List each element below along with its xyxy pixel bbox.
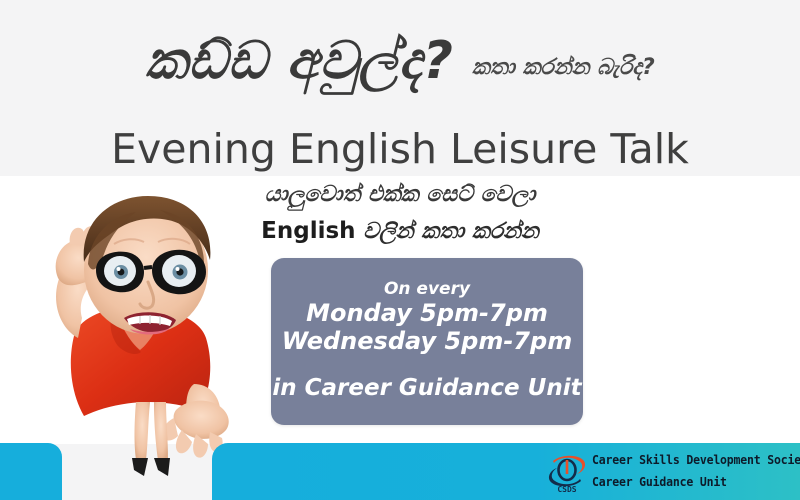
schedule-frequency: On every [271,280,583,300]
logo-caption: CSDS [557,485,576,494]
poster-canvas: කඩ්ඩ අවුල්ද?කතා කරන්න බැරිද? Evening Eng… [0,0,800,500]
left-shoe [132,458,148,476]
footer-unit: Career Guidance Unit [592,474,800,491]
schedule-monday: Monday 5pm-7pm [271,300,583,328]
frustrated-woman-photo [18,178,248,478]
left-leg [135,402,151,460]
footer-organization: Career Skills Development Society(CSDS) [592,452,800,469]
schedule-wednesday: Wednesday 5pm-7pm [271,328,583,356]
schedule-info-box: On every Monday 5pm-7pm Wednesday 5pm-7p… [271,258,583,425]
subtitle-english-word: English [261,218,355,244]
schedule-venue: in Career Guidance Unit [271,375,583,401]
headline-row: කඩ්ඩ අවුල්ද?කතා කරන්න බැරිද? [0,34,800,89]
footer-accent-left [0,443,62,500]
subtitle-sinhala-rest: වලින් කතා කරන්න [356,219,539,244]
right-shoe [154,458,170,476]
headline-sinhala-secondary: කතා කරන්න බැරිද? [454,55,655,80]
footer-text-block: Career Skills Development Society(CSDS) … [592,452,800,490]
right-leg [154,402,168,460]
page-title: Evening English Leisure Talk [0,125,800,173]
headline-sinhala-main: කඩ්ඩ අවුල්ද? [145,34,454,89]
csds-logo: CSDS [545,452,589,494]
